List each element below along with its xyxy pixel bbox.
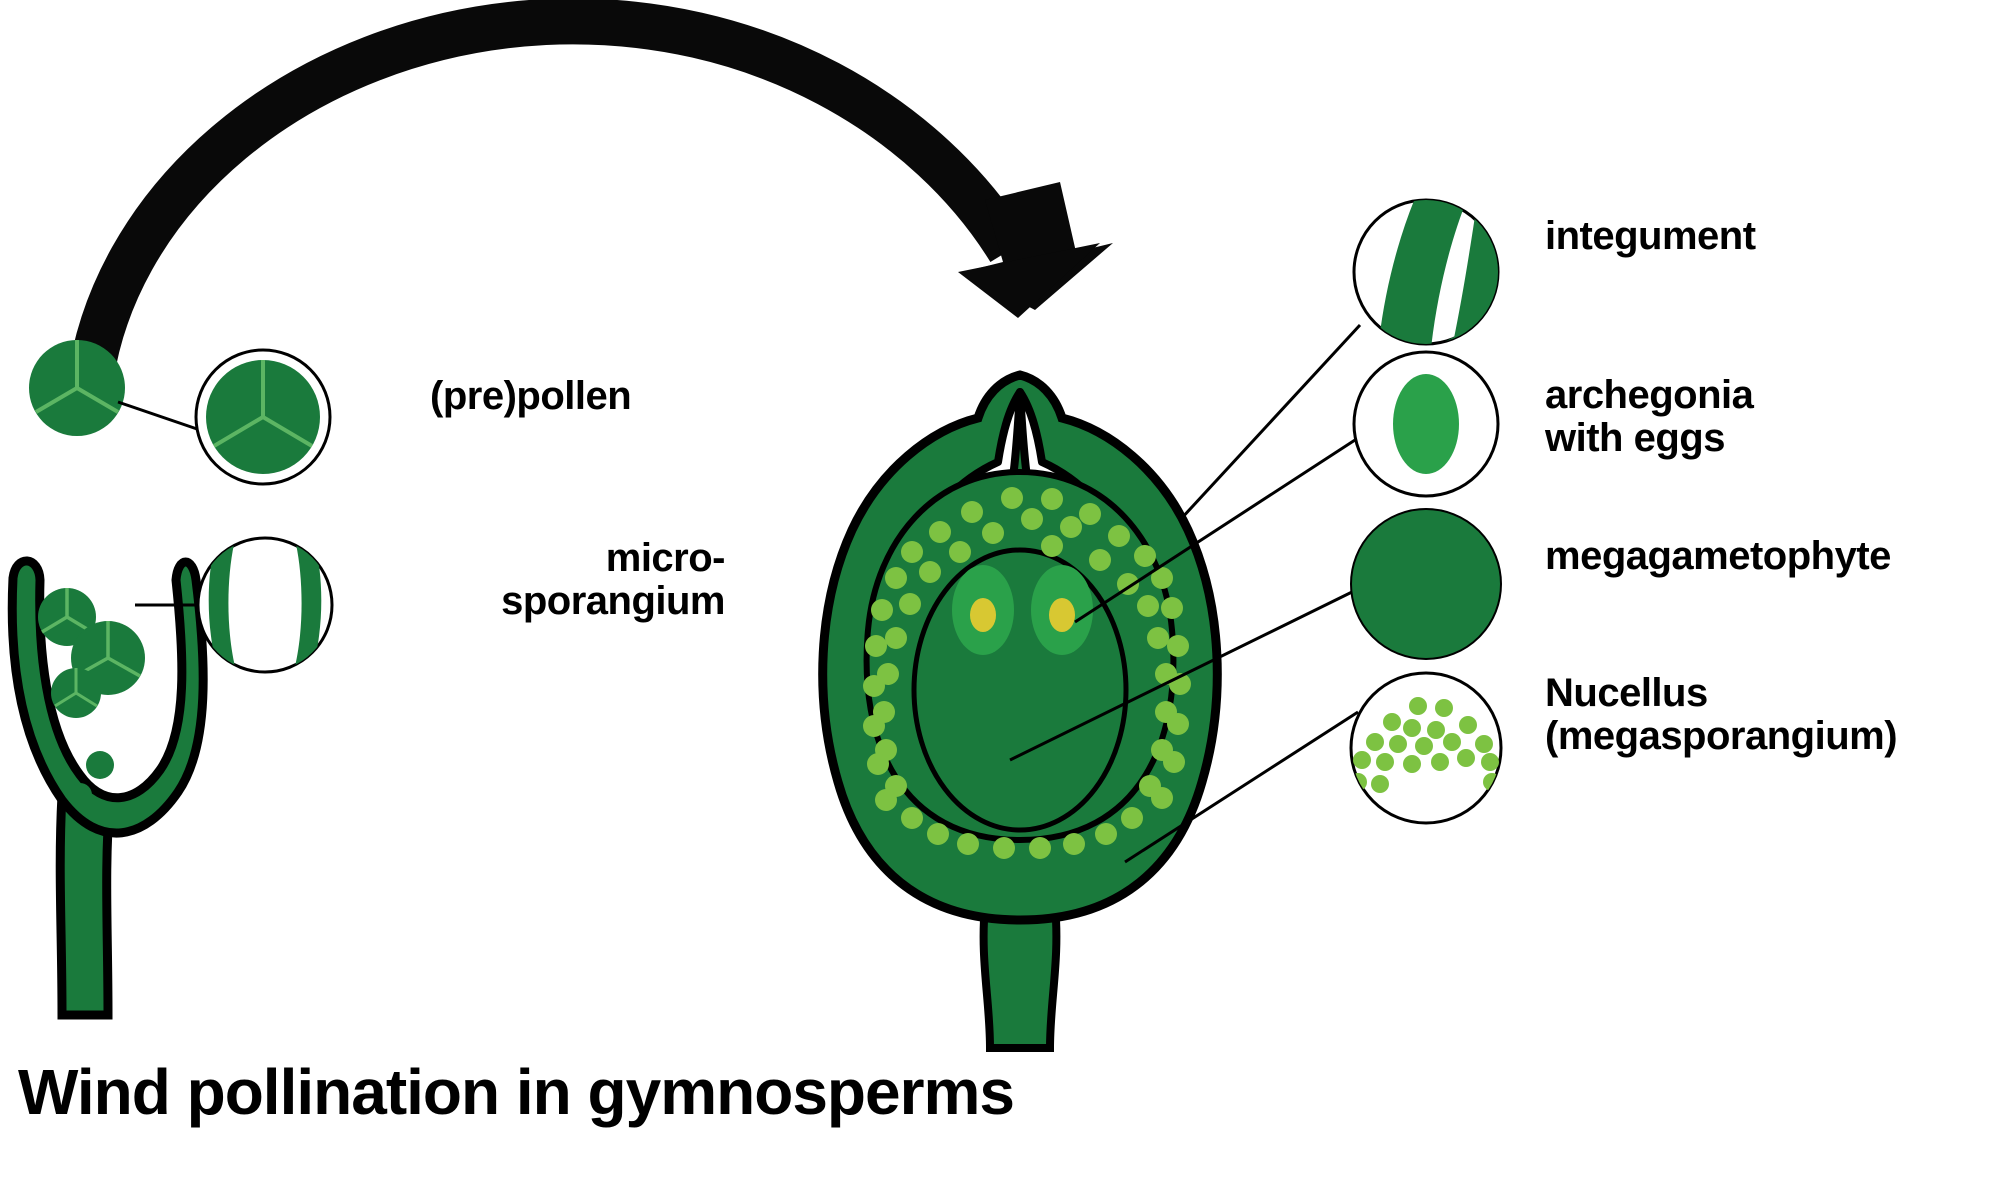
label-prepollen: (pre)pollen bbox=[430, 375, 631, 418]
diagram-svg bbox=[0, 0, 2004, 1180]
page-title: Wind pollination in gymnosperms bbox=[18, 1055, 1014, 1129]
wind-pollination-arrow bbox=[88, 21, 1113, 400]
label-integument: integument bbox=[1545, 215, 1756, 258]
integument-circle bbox=[1354, 182, 1516, 360]
leader-line-integument bbox=[1180, 325, 1360, 520]
ovule-structure bbox=[823, 375, 1218, 1048]
diagram-canvas: (pre)pollen micro- sporangium integument… bbox=[0, 0, 2004, 1180]
free-pollen-grain bbox=[29, 340, 125, 436]
label-nucellus: Nucellus (megasporangium) bbox=[1545, 672, 1897, 758]
leader-line-prepollen bbox=[118, 402, 200, 430]
microsporangium-structure bbox=[12, 340, 203, 1015]
label-archegonia-with-eggs: archegonia with eggs bbox=[1545, 374, 1753, 460]
archegonia-circle bbox=[1354, 352, 1498, 496]
label-megagametophyte: megagametophyte bbox=[1545, 535, 1891, 578]
prepollen-circle bbox=[196, 350, 330, 484]
megagametophyte-circle bbox=[1351, 509, 1501, 659]
megagametophyte-region bbox=[914, 550, 1126, 830]
nucellus-circle bbox=[1347, 673, 1501, 823]
microsporangium-circle bbox=[198, 538, 332, 693]
label-microsporangium: micro- sporangium bbox=[445, 537, 725, 623]
